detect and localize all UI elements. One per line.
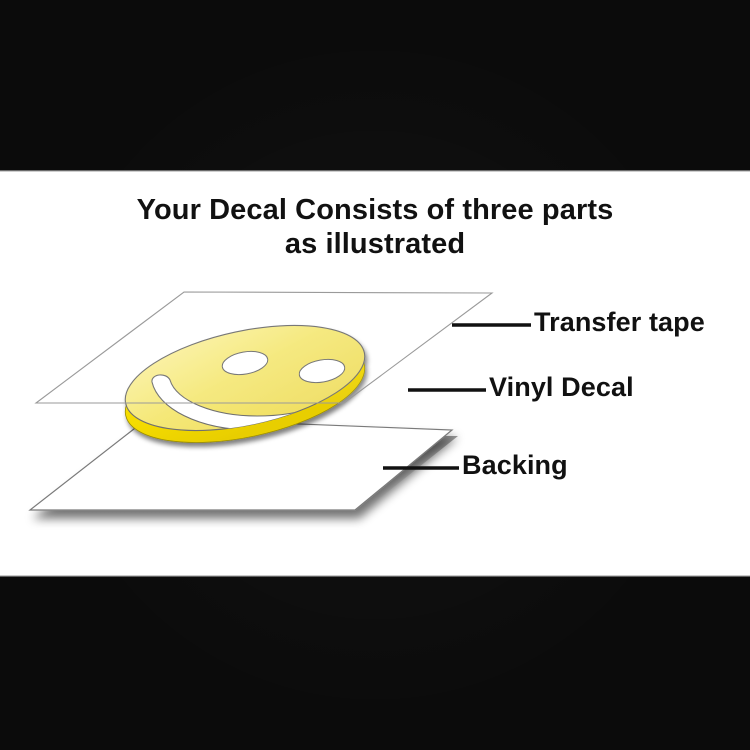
screenshot-root: Your Decal Consists of three parts as il… (0, 0, 750, 750)
callout-label-backing: Backing (462, 450, 568, 481)
callout-label-transfer-tape: Transfer tape (534, 307, 705, 338)
transfer-tape-sheet (36, 292, 492, 403)
callout-label-vinyl-decal: Vinyl Decal (489, 372, 634, 403)
decal-layers-diagram (0, 0, 750, 750)
layer-transfer-tape (36, 292, 492, 403)
